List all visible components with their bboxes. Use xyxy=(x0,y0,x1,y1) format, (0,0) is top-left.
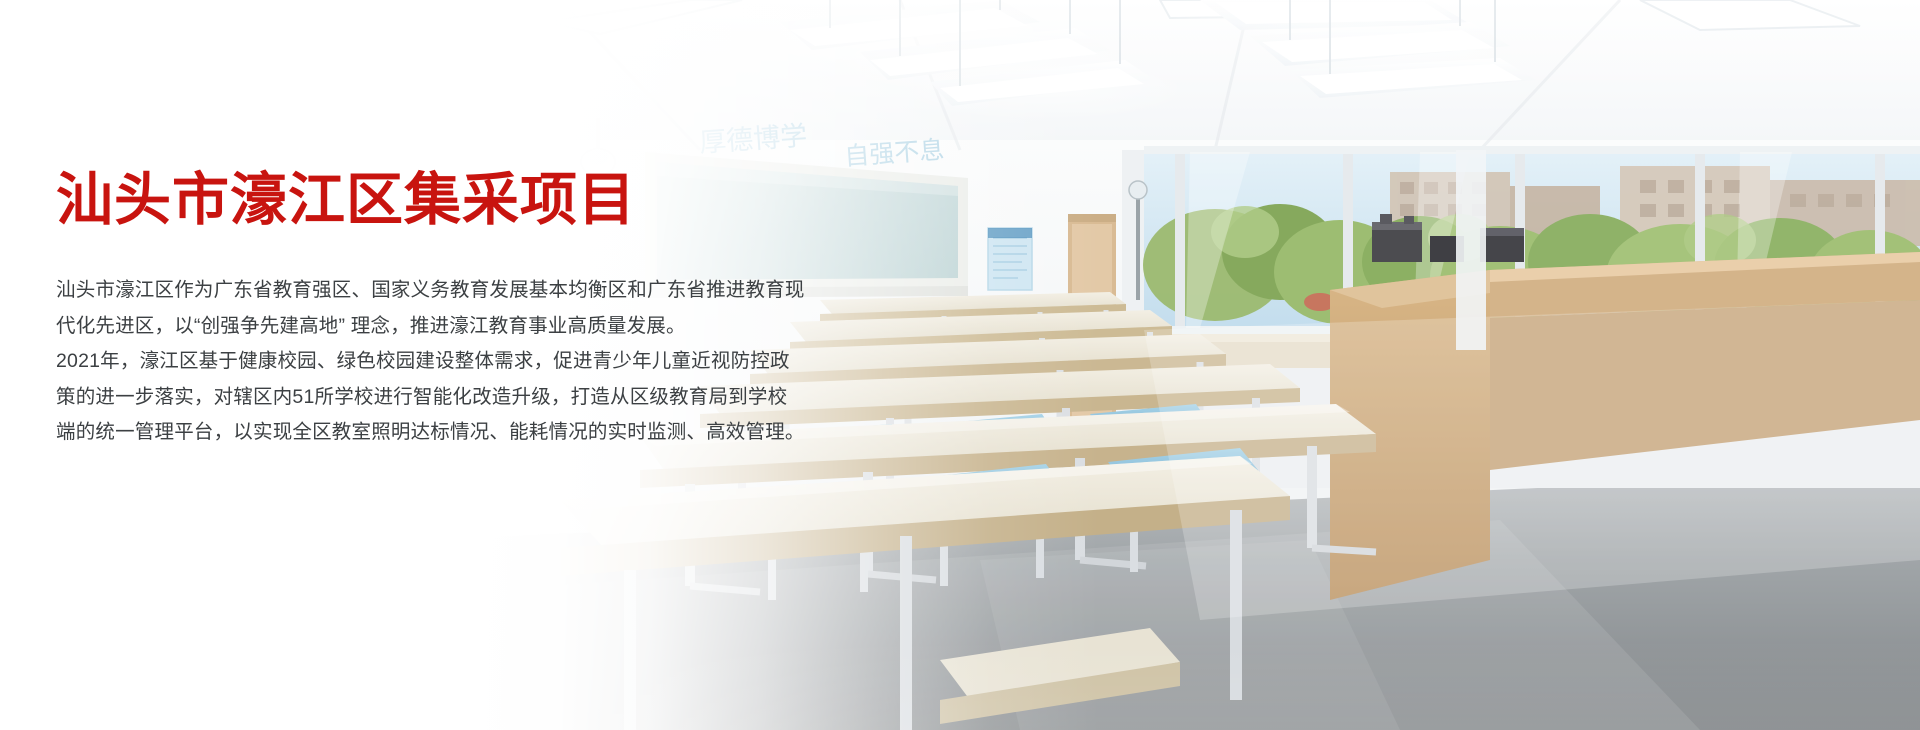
description-line: 汕头市濠江区作为广东省教育强区、国家义务教育发展基本均衡区和广东省推进教育现 xyxy=(56,273,936,309)
hero-banner: 厚德博学 自强不息 xyxy=(0,0,1920,730)
description-line: 策的进一步落实，对辖区内51所学校进行智能化改造升级，打造从区级教育局到学校 xyxy=(56,380,936,416)
description-line: 2021年，濠江区基于健康校园、绿色校园建设整体需求，促进青少年儿童近视防控政 xyxy=(56,344,936,380)
notice-board xyxy=(988,228,1032,290)
page-title: 汕头市濠江区集采项目 xyxy=(56,168,936,232)
description-line: 代化先进区，以“创强争先建高地” 理念，推进濠江教育事业高质量发展。 xyxy=(56,309,936,345)
hero-description: 汕头市濠江区作为广东省教育强区、国家义务教育发展基本均衡区和广东省推进教育现 代… xyxy=(56,273,936,451)
description-line: 端的统一管理平台，以实现全区教室照明达标情况、能耗情况的实时监测、高效管理。 xyxy=(56,415,936,451)
hero-copy: 汕头市濠江区集采项目 汕头市濠江区作为广东省教育强区、国家义务教育发展基本均衡区… xyxy=(56,168,936,451)
